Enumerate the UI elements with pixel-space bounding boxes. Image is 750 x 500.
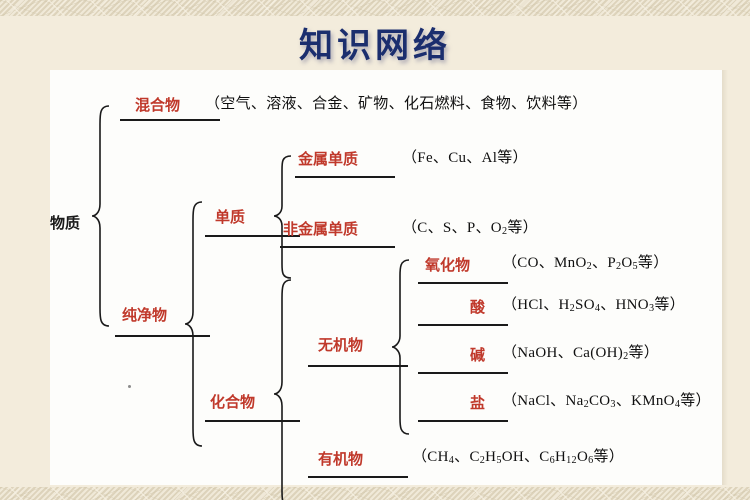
examples-oxide-p6: 等） bbox=[638, 255, 669, 271]
bottom-border-decoration bbox=[0, 487, 750, 500]
brace-root bbox=[90, 104, 112, 328]
node-substance: 物质 bbox=[50, 216, 80, 231]
underline-oxide bbox=[418, 282, 508, 284]
underline-organic bbox=[308, 476, 408, 478]
slide-canvas: 知识网络 物质 混合物 （空气、溶液、合金、矿物、化石燃料、食物、饮料等） 纯净… bbox=[0, 0, 750, 500]
node-element: 单质 bbox=[215, 210, 245, 225]
examples-acid-p6: 等） bbox=[654, 297, 685, 313]
examples-mixture: （空气、溶液、合金、矿物、化石燃料、食物、饮料等） bbox=[205, 97, 588, 112]
node-oxide: 氧化物 bbox=[425, 258, 470, 273]
examples-organic-p0: （CH bbox=[412, 449, 449, 465]
examples-acid-p4: 、HNO bbox=[600, 297, 649, 313]
examples-organic-p10: O bbox=[577, 449, 588, 465]
examples-oxide-p2: 、P bbox=[592, 255, 616, 271]
examples-organic-p4: H bbox=[485, 449, 496, 465]
top-border-zigzag bbox=[0, 0, 750, 16]
examples-organic: （CH4、C2H5OH、C6H12O6等） bbox=[412, 450, 624, 466]
underline-nonmetal-element bbox=[280, 246, 395, 248]
examples-base-p2: 等） bbox=[628, 345, 659, 361]
examples-oxide: （CO、MnO2、P2O5等） bbox=[502, 256, 669, 272]
examples-nonmetal-element: （C、S、P、O2等） bbox=[402, 221, 538, 237]
underline-base bbox=[418, 372, 508, 374]
examples-salt-p6: 等） bbox=[680, 393, 711, 409]
examples-oxide-p4: O bbox=[621, 255, 632, 271]
examples-salt-p0: （NaCl、Na bbox=[502, 393, 584, 409]
node-compound: 化合物 bbox=[210, 395, 255, 410]
examples-metal-element: （Fe、Cu、Al等） bbox=[402, 151, 528, 166]
top-border-decoration bbox=[0, 0, 750, 16]
brace-compound bbox=[272, 278, 294, 500]
underline-acid bbox=[418, 324, 508, 326]
node-pure-substance: 纯净物 bbox=[122, 308, 167, 323]
examples-nonmetal-p2: 等） bbox=[507, 220, 538, 236]
examples-acid-p0: （HCl、H bbox=[502, 297, 570, 313]
examples-acid-p2: SO bbox=[575, 297, 595, 313]
diagram-area: 物质 混合物 （空气、溶液、合金、矿物、化石燃料、食物、饮料等） 纯净物 单质 bbox=[50, 70, 722, 485]
examples-acid: （HCl、H2SO4、HNO3等） bbox=[502, 298, 685, 314]
scan-speck bbox=[128, 385, 131, 388]
examples-organic-p2: 、C bbox=[454, 449, 480, 465]
underline-salt bbox=[418, 420, 508, 422]
examples-organic-p8: H bbox=[555, 449, 566, 465]
page-title: 知识网络 bbox=[0, 18, 750, 67]
underline-mixture bbox=[120, 119, 220, 121]
underline-metal-element bbox=[295, 176, 395, 178]
examples-salt-p4: 、KMnO bbox=[616, 393, 675, 409]
node-nonmetal-element: 非金属单质 bbox=[283, 222, 358, 237]
node-mixture: 混合物 bbox=[135, 98, 180, 113]
node-salt: 盐 bbox=[470, 396, 485, 411]
bottom-border-zigzag bbox=[0, 487, 750, 500]
node-organic: 有机物 bbox=[318, 452, 363, 467]
brace-inorganic bbox=[390, 258, 412, 438]
examples-oxide-p0: （CO、MnO bbox=[502, 255, 587, 271]
node-base: 碱 bbox=[470, 348, 485, 363]
examples-base-p0: （NaOH、Ca(OH) bbox=[502, 345, 623, 361]
brace-pure-substance bbox=[183, 200, 205, 448]
brace-element bbox=[272, 154, 294, 282]
examples-nonmetal-p0: （C、S、P、O bbox=[402, 220, 502, 236]
node-metal-element: 金属单质 bbox=[298, 152, 358, 167]
examples-organic-p9: 12 bbox=[566, 455, 577, 466]
examples-salt: （NaCl、Na2CO3、KMnO4等） bbox=[502, 394, 711, 410]
node-inorganic: 无机物 bbox=[318, 338, 363, 353]
examples-organic-p6: OH、C bbox=[502, 449, 550, 465]
examples-salt-p2: CO bbox=[589, 393, 610, 409]
examples-base: （NaOH、Ca(OH)2等） bbox=[502, 346, 659, 362]
examples-organic-p12: 等） bbox=[593, 449, 624, 465]
node-acid: 酸 bbox=[470, 300, 485, 315]
